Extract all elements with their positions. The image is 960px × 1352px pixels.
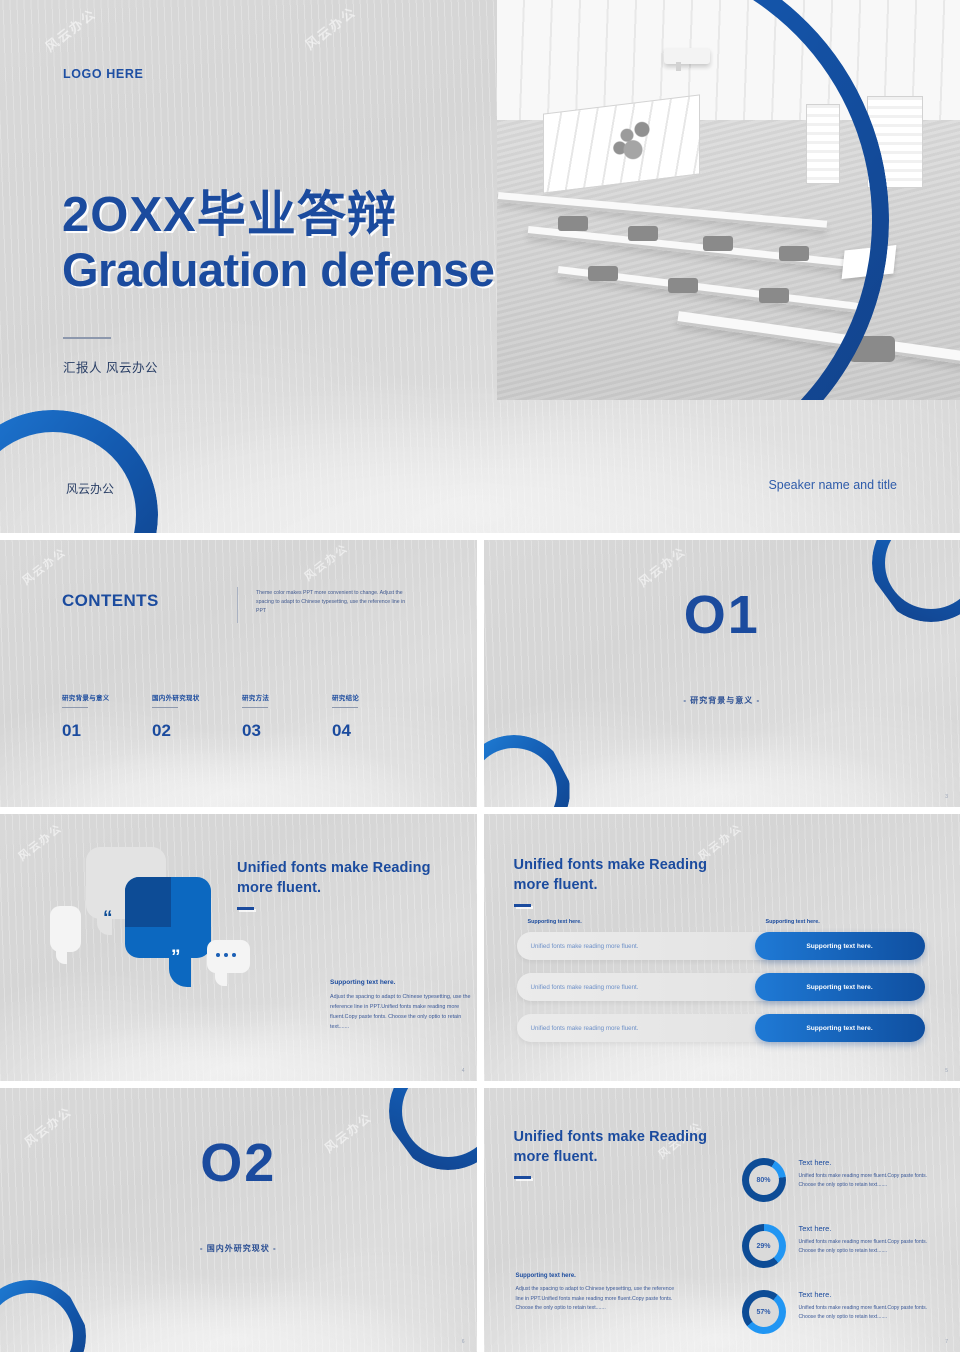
page-title: CONTENTS — [62, 591, 159, 611]
speech-bubble-icon — [125, 877, 211, 958]
pill-button[interactable]: Supporting text here. — [755, 1014, 925, 1042]
underline — [152, 707, 178, 708]
stat-title: Text here. — [799, 1290, 942, 1299]
underline — [332, 707, 358, 708]
list-item[interactable]: Unified fonts make reading more fluent. … — [517, 932, 927, 960]
heading-block: Unified fonts make Reading more fluent. — [514, 856, 744, 907]
watermark: 风云办公 — [19, 544, 70, 589]
support-body: Adjust the spacing to adapt to Chinese t… — [330, 992, 472, 1032]
underline — [62, 707, 88, 708]
decorative-ring-bottom-left — [0, 1280, 86, 1352]
logo-placeholder: LOGO HERE — [63, 67, 143, 81]
deck-row-3: 风云办公 “ ” Unified fonts make Reading more… — [0, 814, 960, 1081]
page-heading: Unified fonts make Reading more fluent. — [237, 859, 462, 898]
list-item[interactable]: 29% Text here. Unified fonts make readin… — [742, 1224, 942, 1268]
donut-chart-29: 29% — [742, 1224, 786, 1268]
decorative-ring-bottom-left — [0, 410, 158, 533]
page-number: 6 — [462, 1339, 465, 1345]
ellipsis-icon — [216, 953, 236, 957]
support-body: Adjust the spacing to adapt to Chinese t… — [516, 1285, 681, 1314]
slide-deck: 风云办公 风云办公 — [0, 0, 960, 1352]
list-item[interactable]: 国内外研究现状 02 — [152, 692, 242, 741]
watermark: 风云办公 — [41, 4, 100, 56]
stat-text: Text here. Unified fonts make reading mo… — [799, 1224, 942, 1256]
stat-text: Text here. Unified fonts make reading mo… — [799, 1158, 942, 1190]
presenter-label: 汇报人 风云办公 — [63, 357, 158, 376]
contents-item-number: 02 — [152, 721, 242, 741]
list-item[interactable]: 57% Text here. Unified fonts make readin… — [742, 1290, 942, 1334]
list-item[interactable]: 研究背景与意义 01 — [62, 692, 152, 741]
underline — [242, 707, 268, 708]
heading-block: Unified fonts make Reading more fluent. — [514, 1128, 744, 1179]
contents-item-label: 国内外研究现状 — [152, 692, 242, 702]
page-heading: Unified fonts make Reading more fluent. — [514, 1128, 744, 1167]
list-item[interactable]: 研究结论 04 — [332, 692, 422, 741]
stats-list: 80% Text here. Unified fonts make readin… — [742, 1158, 942, 1352]
page-heading: Unified fonts make Reading more fluent. — [514, 856, 744, 895]
stat-body: Unified fonts make reading more fluent.C… — [799, 1238, 942, 1256]
quote-close-icon: ” — [171, 948, 181, 967]
heading-dash — [237, 907, 254, 910]
slide-section-02[interactable]: 风云办公 风云办公 O2 - 国内外研究现状 - 6 — [0, 1088, 477, 1352]
stat-title: Text here. — [799, 1224, 942, 1233]
page-number: 7 — [945, 1339, 948, 1345]
donut-value: 29% — [749, 1231, 779, 1261]
contents-item-number: 01 — [62, 721, 152, 741]
section-number: O1 — [484, 584, 960, 646]
stat-body: Unified fonts make reading more fluent.C… — [799, 1172, 942, 1190]
contents-item-number: 04 — [332, 721, 422, 741]
heading-dash — [514, 1176, 531, 1179]
section-number: O2 — [0, 1132, 477, 1194]
page-number: 4 — [462, 1068, 465, 1074]
list-item[interactable]: 研究方法 03 — [242, 692, 332, 741]
divider — [237, 587, 238, 623]
deck-row-4: 风云办公 风云办公 O2 - 国内外研究现状 - 6 风云办公 Unified … — [0, 1088, 960, 1352]
heading-dash — [514, 904, 531, 907]
watermark: 风云办公 — [301, 540, 352, 584]
list-item[interactable]: Unified fonts make reading more fluent. … — [517, 1014, 927, 1042]
support-block: Supporting text here. Adjust the spacing… — [516, 1273, 681, 1314]
list-item[interactable]: 80% Text here. Unified fonts make readin… — [742, 1158, 942, 1202]
slide-section-01[interactable]: 风云办公 O1 - 研究背景与意义 - 3 — [484, 540, 960, 807]
stat-text: Text here. Unified fonts make reading mo… — [799, 1290, 942, 1322]
heading-block: Unified fonts make Reading more fluent. — [237, 859, 462, 910]
caption-left: Supporting text here. — [528, 919, 582, 925]
pill-button[interactable]: Supporting text here. — [755, 932, 925, 960]
contents-list: 研究背景与意义 01 国内外研究现状 02 研究方法 03 研究结论 — [62, 692, 422, 741]
slide-title[interactable]: 风云办公 风云办公 — [0, 0, 960, 533]
donut-chart-57: 57% — [742, 1290, 786, 1334]
pill-button[interactable]: Supporting text here. — [755, 973, 925, 1001]
contents-item-label: 研究方法 — [242, 692, 332, 702]
page-number: 3 — [945, 794, 948, 800]
slide-stats[interactable]: 风云办公 Unified fonts make Reading more flu… — [484, 1088, 960, 1352]
contents-item-label: 研究结论 — [332, 692, 422, 702]
donut-value: 80% — [749, 1165, 779, 1195]
contents-item-number: 03 — [242, 721, 332, 741]
decorative-ring-bottom-left — [484, 735, 570, 807]
page-number: 5 — [945, 1068, 948, 1074]
stat-title: Text here. — [799, 1158, 942, 1167]
speaker-label: Speaker name and title — [768, 478, 897, 492]
list-item[interactable]: Unified fonts make reading more fluent. … — [517, 973, 927, 1001]
page-title-cn: 2OXX毕业答辩 — [62, 175, 397, 246]
section-subtitle: - 研究背景与意义 - — [484, 695, 960, 706]
pill-rows: Unified fonts make reading more fluent. … — [517, 932, 927, 1055]
contents-description: Theme color makes PPT more convenient to… — [256, 589, 408, 616]
contents-item-label: 研究背景与意义 — [62, 692, 152, 702]
book-background — [0, 540, 477, 807]
watermark: 风云办公 — [301, 2, 360, 54]
quote-open-icon: “ — [103, 909, 113, 928]
support-title: Supporting text here. — [516, 1273, 681, 1279]
support-block: Supporting text here. Adjust the spacing… — [330, 979, 472, 1032]
slide-contents[interactable]: 风云办公 风云办公 CONTENTS Theme color makes PPT… — [0, 540, 477, 807]
slide-pill-list[interactable]: 风云办公 Unified fonts make Reading more flu… — [484, 814, 960, 1081]
section-subtitle: - 国内外研究现状 - — [0, 1243, 477, 1254]
support-title: Supporting text here. — [330, 979, 472, 986]
page-title-en: Graduation defense — [62, 242, 494, 297]
title-rule — [63, 337, 111, 339]
stat-body: Unified fonts make reading more fluent.C… — [799, 1304, 942, 1322]
speech-bubble-icon — [50, 906, 81, 952]
deck-row-2: 风云办公 风云办公 CONTENTS Theme color makes PPT… — [0, 540, 960, 807]
donut-value: 57% — [749, 1297, 779, 1327]
slide-quote[interactable]: 风云办公 “ ” Unified fonts make Reading more… — [0, 814, 477, 1081]
donut-chart-80: 80% — [742, 1158, 786, 1202]
caption-right: Supporting text here. — [766, 919, 820, 925]
watermark: 风云办公 — [15, 820, 66, 865]
classroom-photo — [497, 0, 960, 400]
brand-label: 风云办公 — [66, 480, 114, 497]
